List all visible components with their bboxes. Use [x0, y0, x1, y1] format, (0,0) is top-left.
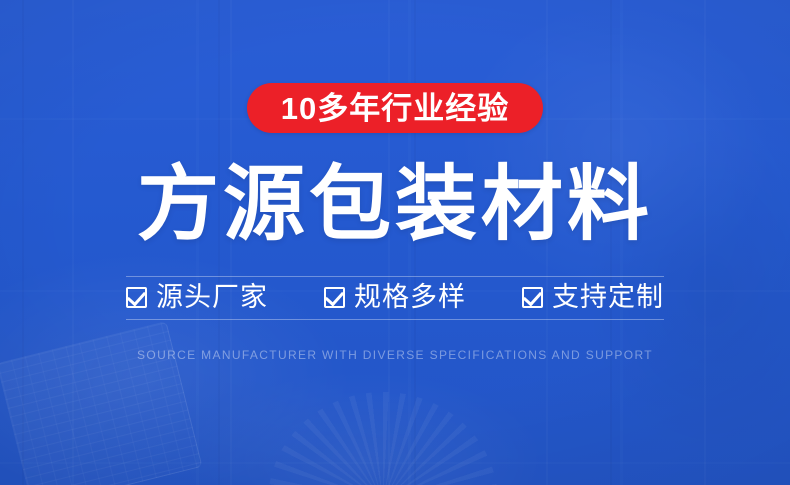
checkbox-checked-icon	[126, 287, 147, 308]
feature-item-diverse-specifications: 规格多样	[324, 284, 466, 311]
english-subtitle: SOURCE MANUFACTURER WITH DIVERSE SPECIFI…	[137, 349, 653, 361]
experience-badge: 10多年行业经验	[247, 83, 543, 133]
feature-list: 源头厂家 规格多样 支持定制	[126, 276, 664, 320]
checkbox-checked-icon	[522, 287, 543, 308]
feature-item-customization-support: 支持定制	[522, 284, 664, 311]
feature-label: 支持定制	[552, 284, 664, 311]
checkbox-checked-icon	[324, 287, 345, 308]
promo-banner: 10多年行业经验 方源包装材料 源头厂家 规格多样 支持定制 SOURCE MA…	[0, 0, 790, 485]
feature-label: 规格多样	[354, 284, 466, 311]
feature-item-source-manufacturer: 源头厂家	[126, 284, 268, 311]
company-title: 方源包装材料	[137, 164, 653, 246]
feature-label: 源头厂家	[156, 284, 268, 311]
banner-content: 10多年行业经验 方源包装材料 源头厂家 规格多样 支持定制 SOURCE MA…	[0, 0, 790, 485]
experience-badge-label: 10多年行业经验	[281, 93, 509, 124]
